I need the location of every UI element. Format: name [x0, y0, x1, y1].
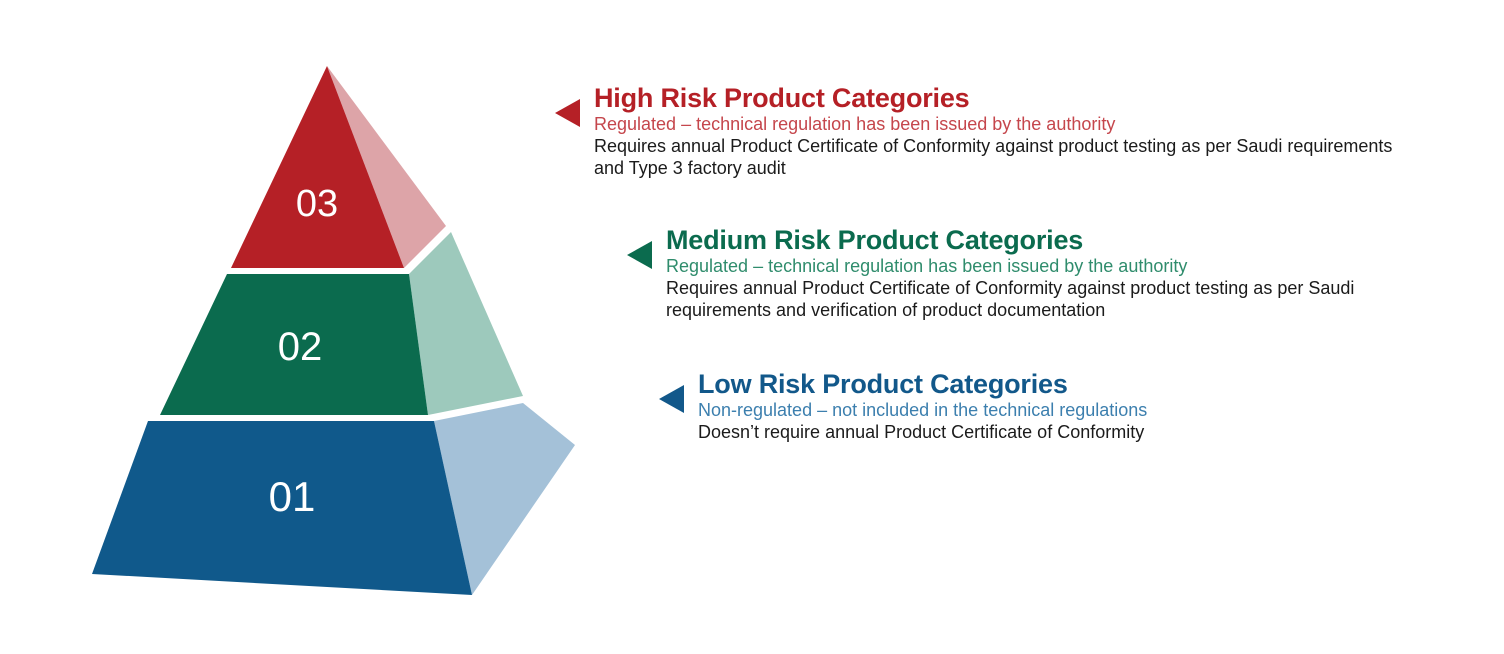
left-triangle-icon: [626, 240, 656, 270]
left-triangle-icon: [554, 98, 584, 128]
risk-item-high-text: High Risk Product Categories Regulated –…: [594, 84, 1422, 180]
pyramid-svg: 01 02 03: [0, 0, 620, 654]
risk-item-medium[interactable]: Medium Risk Product Categories Regulated…: [626, 226, 1436, 322]
pyramid-tier-high[interactable]: 03: [231, 66, 446, 268]
infographic-canvas: 01 02 03 High: [0, 0, 1504, 654]
risk-item-low-title: Low Risk Product Categories: [698, 370, 1318, 399]
risk-item-low-subtitle: Non-regulated – not included in the tech…: [698, 400, 1318, 421]
risk-item-high-subtitle: Regulated – technical regulation has bee…: [594, 114, 1422, 135]
left-triangle-icon: [658, 384, 688, 414]
pyramid-tier-medium-side-face: [409, 232, 523, 415]
risk-item-high-body: Requires annual Product Certificate of C…: [594, 136, 1422, 180]
risk-item-medium-subtitle: Regulated – technical regulation has bee…: [666, 256, 1436, 277]
risk-item-low-text: Low Risk Product Categories Non-regulate…: [698, 370, 1318, 444]
risk-category-list: High Risk Product Categories Regulated –…: [548, 0, 1504, 654]
risk-item-medium-title: Medium Risk Product Categories: [666, 226, 1436, 255]
pyramid-tier-high-number: 03: [296, 183, 338, 225]
pyramid-tier-low-number: 01: [269, 473, 316, 520]
risk-item-medium-text: Medium Risk Product Categories Regulated…: [666, 226, 1436, 322]
pyramid-tier-low[interactable]: 01: [92, 403, 575, 595]
risk-item-high-title: High Risk Product Categories: [594, 84, 1422, 113]
risk-item-medium-body: Requires annual Product Certificate of C…: [666, 278, 1436, 322]
risk-item-low[interactable]: Low Risk Product Categories Non-regulate…: [658, 370, 1318, 444]
pyramid-tier-medium-number: 02: [278, 325, 323, 369]
risk-item-low-body: Doesn’t require annual Product Certifica…: [698, 422, 1318, 444]
risk-item-high[interactable]: High Risk Product Categories Regulated –…: [554, 84, 1422, 180]
risk-pyramid-diagram: 01 02 03: [0, 0, 620, 654]
